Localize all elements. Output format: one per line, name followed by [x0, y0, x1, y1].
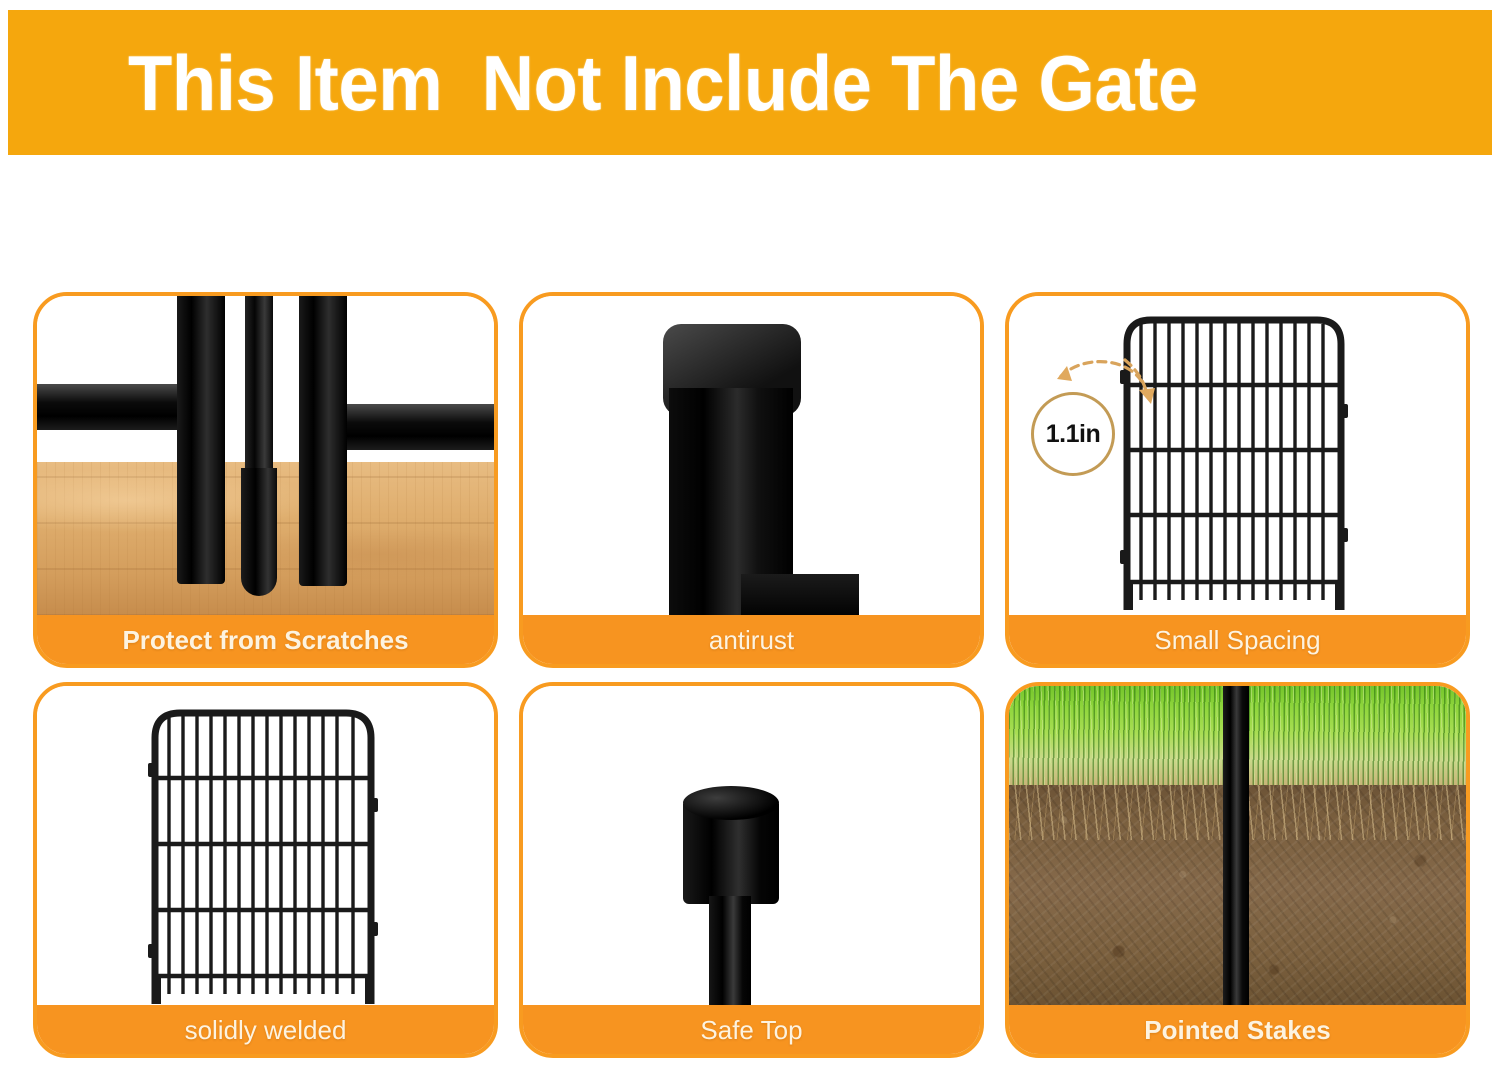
panel-caption-bar: Small Spacing	[1008, 615, 1467, 665]
pointed-stake-icon	[1223, 686, 1249, 1006]
panel-caption-text: solidly welded	[185, 1017, 347, 1043]
spacing-callout-badge: 1.1in	[1031, 392, 1115, 476]
spacing-callout-value: 1.1in	[1046, 420, 1100, 449]
panel-media-soil-cross-section	[1009, 686, 1466, 1006]
header-banner: This Item Not Include The Gate	[8, 10, 1492, 155]
panel-caption-text: antirust	[709, 627, 794, 653]
panel-caption-bar: solidly welded	[36, 1005, 495, 1055]
fence-post-left-icon	[177, 296, 225, 584]
fence-rail-right-icon	[345, 404, 494, 450]
post-base-icon	[741, 574, 859, 616]
feature-panel-protect-from-scratches: Protect from Scratches	[33, 292, 498, 668]
panel-caption-bar: Safe Top	[522, 1005, 981, 1055]
panel-caption-bar: Pointed Stakes	[1008, 1005, 1467, 1055]
fence-post-right-icon	[299, 296, 347, 586]
panel-caption-text: Safe Top	[700, 1017, 802, 1043]
feature-panel-pointed-stakes: Pointed Stakes	[1005, 682, 1470, 1058]
fence-panel-diagram-icon	[147, 702, 379, 1004]
feature-panel-safe-top: Safe Top	[519, 682, 984, 1058]
banner-title: This Item Not Include The Gate	[128, 44, 1198, 122]
panel-caption-bar: antirust	[522, 615, 981, 665]
panel-media-fence-spacing: 1.1in	[1009, 296, 1466, 616]
ground-cross-section	[1009, 686, 1466, 1006]
panel-media-wood-floor-posts	[37, 296, 494, 616]
feature-panel-solidly-welded: solidly welded	[33, 682, 498, 1058]
center-stake-icon	[245, 296, 273, 474]
safe-top-rod-icon	[709, 896, 751, 1006]
panel-caption-text: Small Spacing	[1154, 627, 1320, 653]
panel-media-fence-welded	[37, 686, 494, 1006]
spacing-arrow-secondary-icon	[1121, 356, 1171, 412]
panel-caption-bar: Protect from Scratches	[36, 615, 495, 665]
panel-media-safe-top	[523, 686, 980, 1006]
anti-scratch-foot-icon	[241, 468, 277, 596]
panel-caption-text: Protect from Scratches	[122, 627, 408, 653]
panel-media-square-post	[523, 296, 980, 616]
feature-panel-grid: Protect from Scratches antirust	[33, 292, 1470, 1067]
feature-panel-antirust: antirust	[519, 292, 984, 668]
feature-panel-small-spacing: 1.1in Small Spacing	[1005, 292, 1470, 668]
panel-caption-text: Pointed Stakes	[1144, 1017, 1330, 1043]
safe-top-cap-top-icon	[683, 786, 779, 820]
